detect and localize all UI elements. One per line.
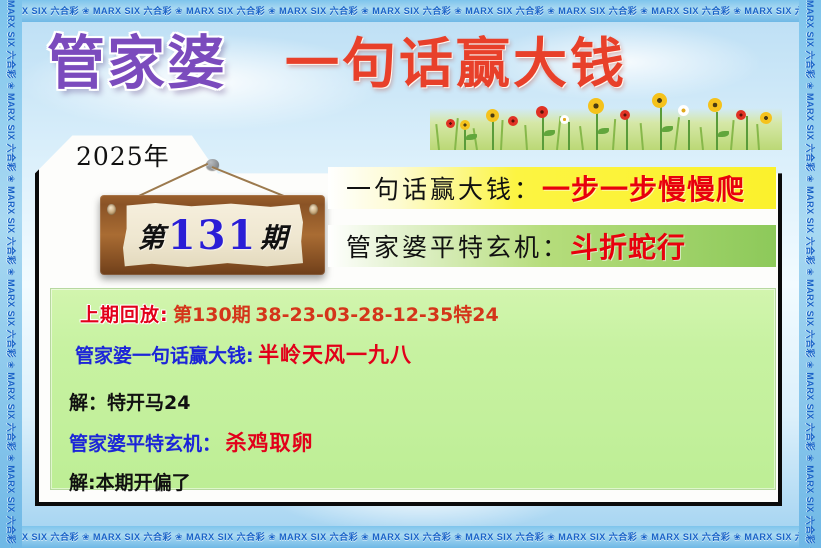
banner-value: 一步一步慢慢爬 — [542, 168, 745, 208]
frame-left-border: MARX SIX 六合彩 ❀ MARX SIX 六合彩 ❀ MARX SIX 六… — [0, 0, 22, 548]
recap-period: 第130期 — [173, 304, 251, 326]
frame-bottom-border: MARX SIX 六合彩 ❀ MARX SIX 六合彩 ❀ MARX SIX 六… — [0, 526, 821, 548]
slogan-title: 一句话赢大钱 — [285, 36, 627, 90]
brand-title: 管家婆 — [47, 34, 227, 92]
flower-grass-decoration — [430, 88, 782, 150]
banner-pingte-xuanji: 管家婆平特玄机： 斗折蛇行 — [328, 225, 776, 267]
recap-special-prefix: 特 — [453, 304, 472, 326]
banner-label: 管家婆平特玄机： — [346, 228, 570, 264]
banner-yiju-huaying: 一句话赢大钱： 一步一步慢慢爬 — [328, 167, 776, 209]
explanation-row-1: 解：特开马24 — [69, 394, 775, 413]
explanation-text-1: 解：特开马24 — [69, 392, 190, 414]
prev-slogan-label: 管家婆一句话赢大钱: — [75, 345, 254, 367]
frame-ticker-text: MARX SIX 六合彩 ❀ MARX SIX 六合彩 ❀ MARX SIX 六… — [0, 526, 821, 548]
prev-xuanji-row: 管家婆平特玄机： 杀鸡取卵 — [69, 433, 775, 454]
period-suffix: 期 — [260, 216, 287, 255]
period-prefix: 第 — [138, 216, 165, 255]
prev-slogan-value: 半岭天风一九八 — [258, 343, 412, 367]
explanation-text-2: 解:本期开偏了 — [69, 472, 191, 494]
year-label: 2025年 — [76, 137, 170, 173]
frame-top-border: MARX SIX 六合彩 ❀ MARX SIX 六合彩 ❀ MARX SIX 六… — [0, 0, 821, 22]
banner-value: 斗折蛇行 — [570, 226, 686, 266]
recap-special-number: 24 — [472, 304, 498, 326]
recap-row: 上期回放: 第130期 38-23-03-28-12-35特24 — [80, 306, 775, 325]
recap-label: 上期回放: — [80, 304, 169, 326]
page-root: MARX SIX 六合彩 ❀ MARX SIX 六合彩 ❀ MARX SIX 六… — [0, 0, 821, 548]
result-panel: 上期回放: 第130期 38-23-03-28-12-35特24 管家婆一句话赢… — [50, 288, 776, 490]
banner-label: 一句话赢大钱： — [346, 170, 542, 206]
frame-right-border: MARX SIX 六合彩 ❀ MARX SIX 六合彩 ❀ MARX SIX 六… — [799, 0, 821, 548]
prev-slogan-row: 管家婆一句话赢大钱: 半岭天风一九八 — [75, 345, 775, 366]
prev-xuanji-value: 杀鸡取卵 — [225, 431, 313, 455]
frame-ticker-text: MARX SIX 六合彩 ❀ MARX SIX 六合彩 ❀ MARX SIX 六… — [799, 0, 821, 548]
period-number: 131 — [168, 212, 258, 259]
frame-ticker-text: MARX SIX 六合彩 ❀ MARX SIX 六合彩 ❀ MARX SIX 六… — [0, 0, 22, 548]
period-text: 第 131 期 — [100, 200, 325, 270]
frame-ticker-text: MARX SIX 六合彩 ❀ MARX SIX 六合彩 ❀ MARX SIX 六… — [0, 0, 821, 22]
recap-numbers: 38-23-03-28-12-35 — [255, 304, 453, 326]
prev-xuanji-label: 管家婆平特玄机： — [69, 433, 221, 455]
explanation-row-2: 解:本期开偏了 — [69, 474, 775, 493]
